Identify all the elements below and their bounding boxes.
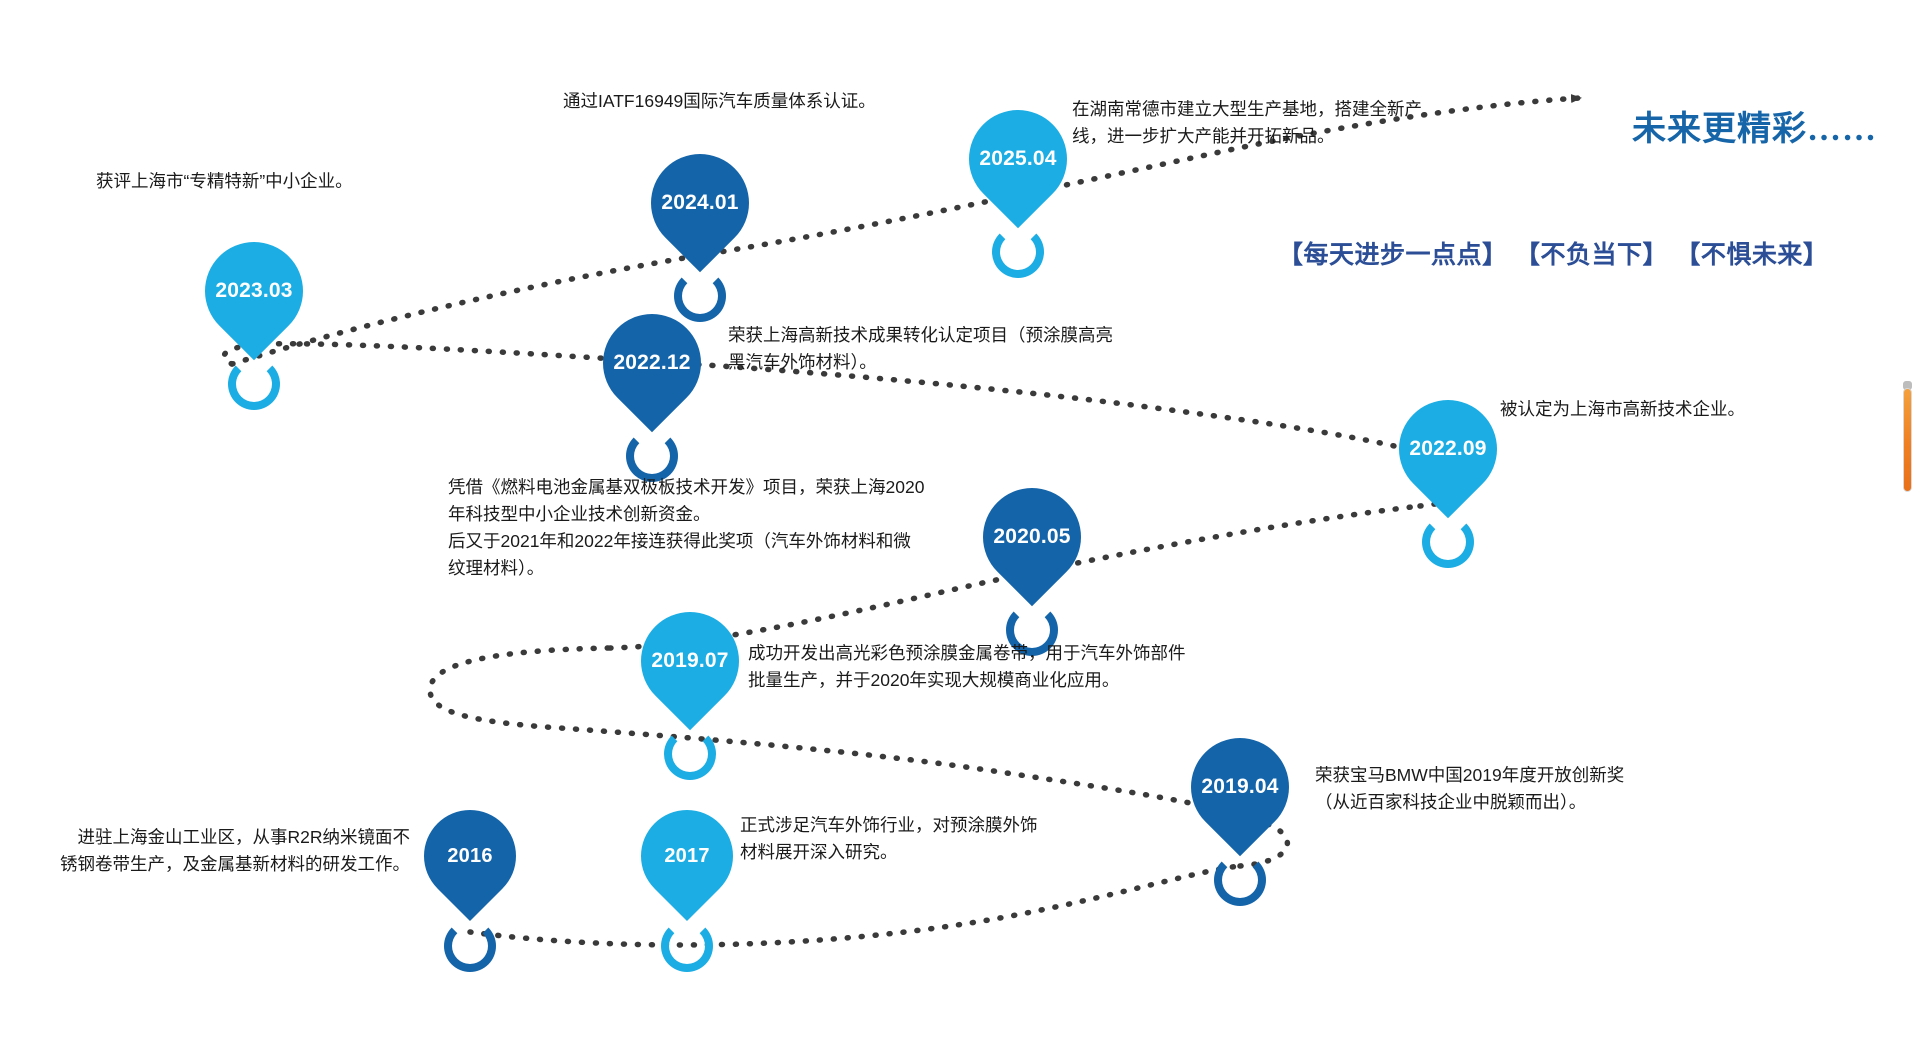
pin-arc: [674, 270, 726, 322]
milestone-caption-2024-01: 通过IATF16949国际汽车质量体系认证。: [563, 88, 1023, 115]
milestone-caption-2022-12: 荣获上海高新技术成果转化认定项目（预涂膜高亮 黑汽车外饰材料）。: [728, 322, 1168, 376]
milestone-caption-2019-07: 成功开发出高光彩色预涂膜金属卷带，用于汽车外饰部件 批量生产，并于2020年实现…: [748, 640, 1268, 694]
pin-label: 2019.07: [641, 612, 739, 710]
path-segment-bottom: [470, 866, 1240, 945]
pin-bulb: 2022.09: [1379, 380, 1518, 519]
pin-label: 2022.09: [1399, 400, 1497, 498]
milestone-caption-2023-03: 获评上海市“专精特新”中小企业。: [96, 168, 496, 195]
future-headline: 未来更精彩……: [1632, 101, 1877, 150]
pin-label: 2016: [424, 810, 516, 902]
pin-arc: [1422, 516, 1474, 568]
pin-label: 2017: [641, 810, 733, 902]
milestone-caption-2025-04: 在湖南常德市建立大型生产基地，搭建全新产 线，进一步扩大产能并开拓新品。: [1072, 96, 1472, 150]
pin-bulb: 2024.01: [631, 134, 770, 273]
milestone-caption-2017: 正式涉足汽车外饰行业，对预涂膜外饰 材料展开深入研究。: [740, 812, 1160, 866]
pin-label: 2019.04: [1191, 738, 1289, 836]
pin-label: 2024.01: [651, 154, 749, 252]
pin-bulb: 2016: [405, 791, 535, 921]
scrollbar-thumb[interactable]: [1903, 388, 1912, 492]
pin-arc: [664, 728, 716, 780]
pin-bulb: 2019.07: [621, 592, 760, 731]
pin-bulb: 2017: [622, 791, 752, 921]
pin-arc: [444, 920, 496, 972]
pin-label: 2020.05: [983, 488, 1081, 586]
pin-bulb: 2019.04: [1171, 718, 1310, 857]
pin-label: 2025.04: [969, 110, 1067, 208]
company-slogan: 【每天进步一点点】 【不负当下】 【不惧未来】: [1278, 235, 1828, 271]
pin-arc: [992, 226, 1044, 278]
pin-arc: [228, 358, 280, 410]
milestone-caption-2020-05: 凭借《燃料电池金属基双极板技术开发》项目，荣获上海2020 年科技型中小企业技术…: [448, 474, 988, 583]
pin-bulb: 2023.03: [185, 222, 324, 361]
pin-label: 2022.12: [603, 314, 701, 412]
milestone-caption-2016: 进驻上海金山工业区，从事R2R纳米镜面不 锈钢卷带生产，及金属基新材料的研发工作…: [30, 824, 410, 878]
milestone-caption-2019-04: 荣获宝马BMW中国2019年度开放创新奖 （从近百家科技企业中脱颖而出）。: [1315, 762, 1715, 816]
pin-label: 2023.03: [205, 242, 303, 340]
timeline-infographic: 2016 2017 2019.04 2019.07 2020.05 2022.0…: [0, 0, 1914, 1040]
pin-arc: [661, 920, 713, 972]
milestone-caption-2022-09: 被认定为上海市高新技术企业。: [1500, 396, 1914, 423]
pin-arc: [1214, 854, 1266, 906]
